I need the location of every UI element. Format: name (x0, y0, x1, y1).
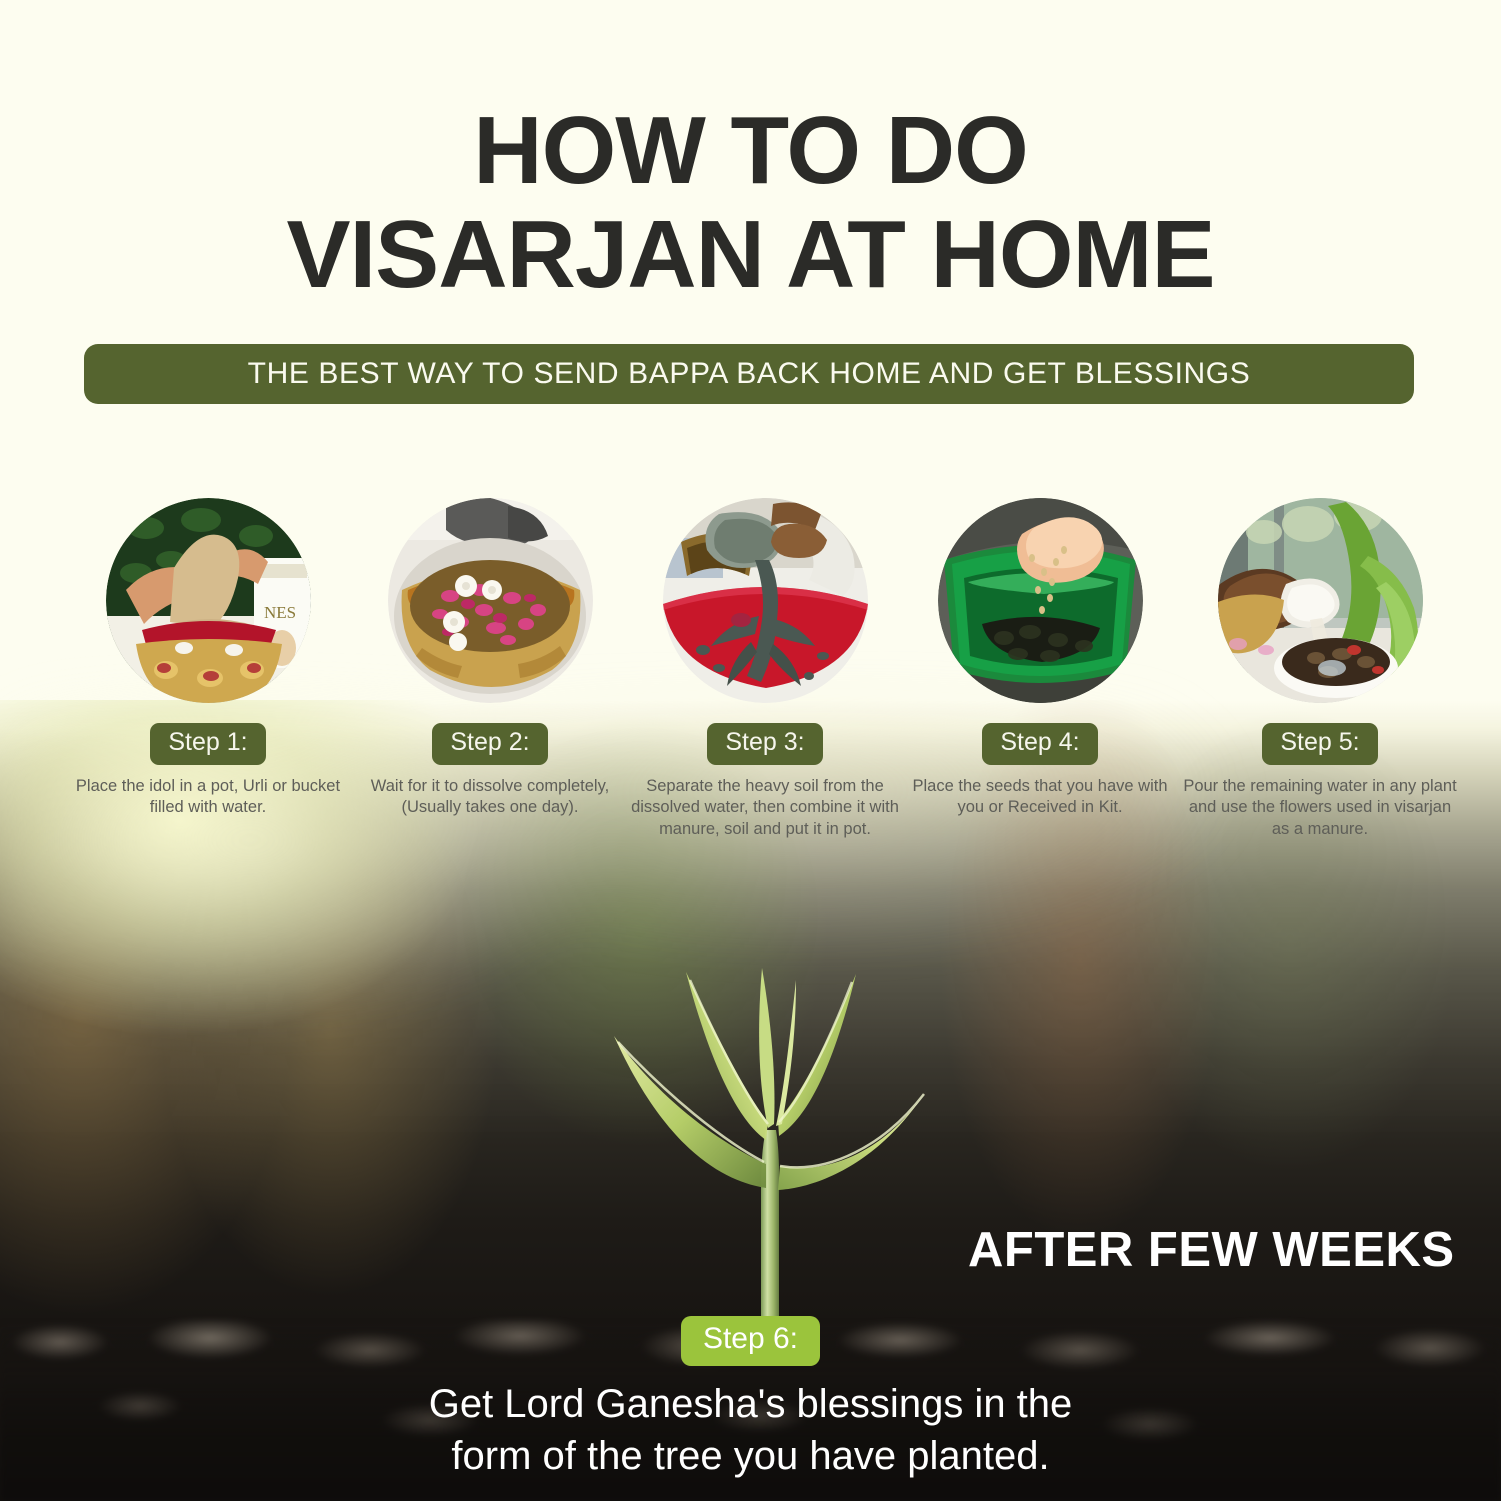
step-item-4: Step 4: Place the seeds that you have wi… (895, 498, 1185, 819)
subtitle-banner: THE BEST WAY TO SEND BAPPA BACK HOME AND… (84, 344, 1414, 404)
step-6-badge: Step 6: (681, 1316, 820, 1366)
step-6-line-2: form of the tree you have planted. (0, 1430, 1501, 1482)
step-2-caption: Wait for it to dissolve completely, (Usu… (345, 776, 635, 819)
step-5-image (1218, 498, 1423, 703)
step-5-badge: Step 5: (1262, 723, 1377, 765)
title-line-1: HOW TO DO (473, 97, 1028, 204)
step-2-badge: Step 2: (432, 723, 547, 765)
step-5-caption: Pour the remaining water in any plant an… (1175, 776, 1465, 840)
step-item-5: Step 5: Pour the remaining water in any … (1175, 498, 1465, 840)
step-item-2: Step 2: Wait for it to dissolve complete… (345, 498, 635, 819)
step-item-1: NES (63, 498, 353, 819)
step-4-caption: Place the seeds that you have with you o… (895, 776, 1185, 819)
step-item-3: Step 3: Separate the heavy soil from the… (620, 498, 910, 840)
step-6-line-1: Get Lord Ganesha's blessings in the (0, 1378, 1501, 1430)
step-6-block: Step 6: Get Lord Ganesha's blessings in … (0, 1316, 1501, 1482)
svg-text:NES: NES (264, 603, 296, 622)
step-3-badge: Step 3: (707, 723, 822, 765)
step-4-badge: Step 4: (982, 723, 1097, 765)
after-few-weeks-label: AFTER FEW WEEKS (968, 1222, 1455, 1278)
step-2-image (388, 498, 593, 703)
subtitle-text: THE BEST WAY TO SEND BAPPA BACK HOME AND… (248, 357, 1251, 391)
page-title: HOW TO DO VISARJAN AT HOME (0, 104, 1501, 302)
step-1-image: NES (106, 498, 311, 703)
infographic-poster: HOW TO DO VISARJAN AT HOME THE BEST WAY … (0, 0, 1501, 1501)
step-3-caption: Separate the heavy soil from the dissolv… (620, 776, 910, 840)
step-4-image (938, 498, 1143, 703)
step-6-text: Get Lord Ganesha's blessings in the form… (0, 1378, 1501, 1482)
seedling-illustration (598, 950, 938, 1350)
step-1-caption: Place the idol in a pot, Urli or bucket … (63, 776, 353, 819)
steps-row: NES (0, 498, 1501, 838)
title-line-2: VISARJAN AT HOME (0, 208, 1501, 302)
step-3-image (663, 498, 868, 703)
step-1-badge: Step 1: (150, 723, 265, 765)
